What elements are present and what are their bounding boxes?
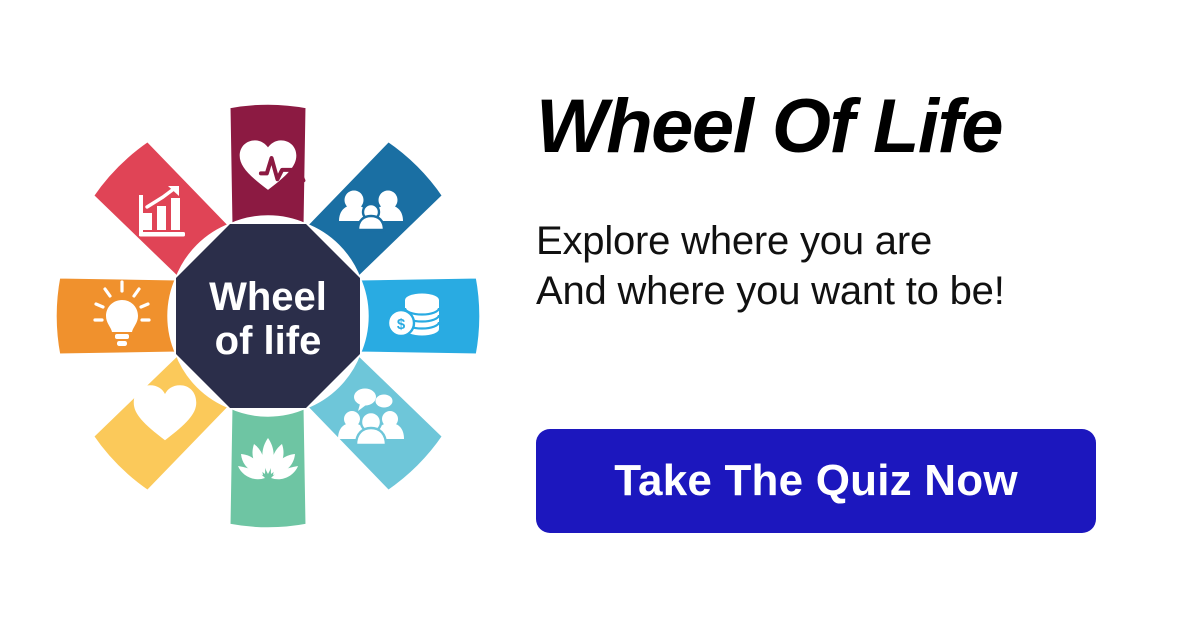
subtitle-line-2: And where you want to be! bbox=[536, 266, 1166, 316]
wheel-of-life-graphic: $ bbox=[40, 90, 496, 542]
promo-banner: $ bbox=[0, 0, 1200, 630]
wheel-hub-line2: of life bbox=[215, 319, 322, 363]
copy-block: Wheel Of Life Explore where you are And … bbox=[536, 86, 1166, 316]
wheel-segment-top[interactable] bbox=[228, 102, 308, 226]
wheel-svg: $ bbox=[40, 90, 496, 542]
page-title: Wheel Of Life bbox=[536, 86, 1166, 168]
subtitle: Explore where you are And where you want… bbox=[536, 216, 1166, 316]
subtitle-line-1: Explore where you are bbox=[536, 216, 1166, 266]
take-quiz-button[interactable]: Take The Quiz Now bbox=[536, 429, 1096, 533]
wheel-segment-right[interactable]: $ bbox=[358, 276, 482, 356]
svg-text:$: $ bbox=[397, 316, 406, 333]
wheel-segment-left[interactable] bbox=[54, 276, 178, 356]
wheel-hub-line1: Wheel bbox=[209, 275, 327, 319]
wheel-hub: Wheel of life bbox=[176, 224, 360, 408]
wheel-segment-bottom[interactable] bbox=[228, 406, 308, 530]
